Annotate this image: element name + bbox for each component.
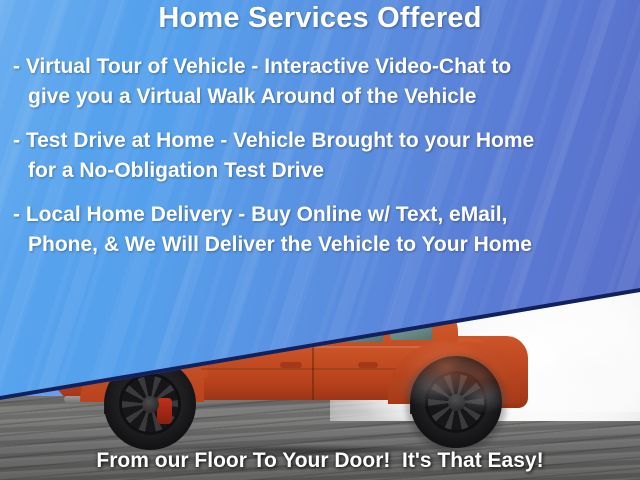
bullet-line-2: Phone, & We Will Deliver the Vehicle to …: [13, 230, 627, 260]
home-services-banner: Home Services Offered - Virtual Tour of …: [0, 0, 640, 480]
list-item: - Virtual Tour of Vehicle - Interactive …: [13, 52, 627, 112]
list-item: - Test Drive at Home - Vehicle Brought t…: [13, 126, 627, 186]
bullet-line-2: for a No-Obligation Test Drive: [13, 156, 627, 186]
page-title: Home Services Offered: [0, 2, 640, 35]
services-list: - Virtual Tour of Vehicle - Interactive …: [13, 52, 627, 274]
bullet-line-1: - Local Home Delivery - Buy Online w/ Te…: [13, 203, 507, 226]
bullet-line-1: - Test Drive at Home - Vehicle Brought t…: [13, 129, 534, 152]
door-seam: [312, 342, 314, 400]
front-hub-cap: [142, 396, 159, 413]
bullet-line-2: give you a Virtual Walk Around of the Ve…: [13, 82, 627, 112]
tagline: From our Floor To Your Door! It's That E…: [0, 449, 640, 473]
list-item: - Local Home Delivery - Buy Online w/ Te…: [13, 200, 627, 260]
bullet-line-1: - Virtual Tour of Vehicle - Interactive …: [13, 55, 511, 78]
brake-caliper: [157, 398, 172, 424]
smoke-grey-core: [388, 352, 518, 416]
